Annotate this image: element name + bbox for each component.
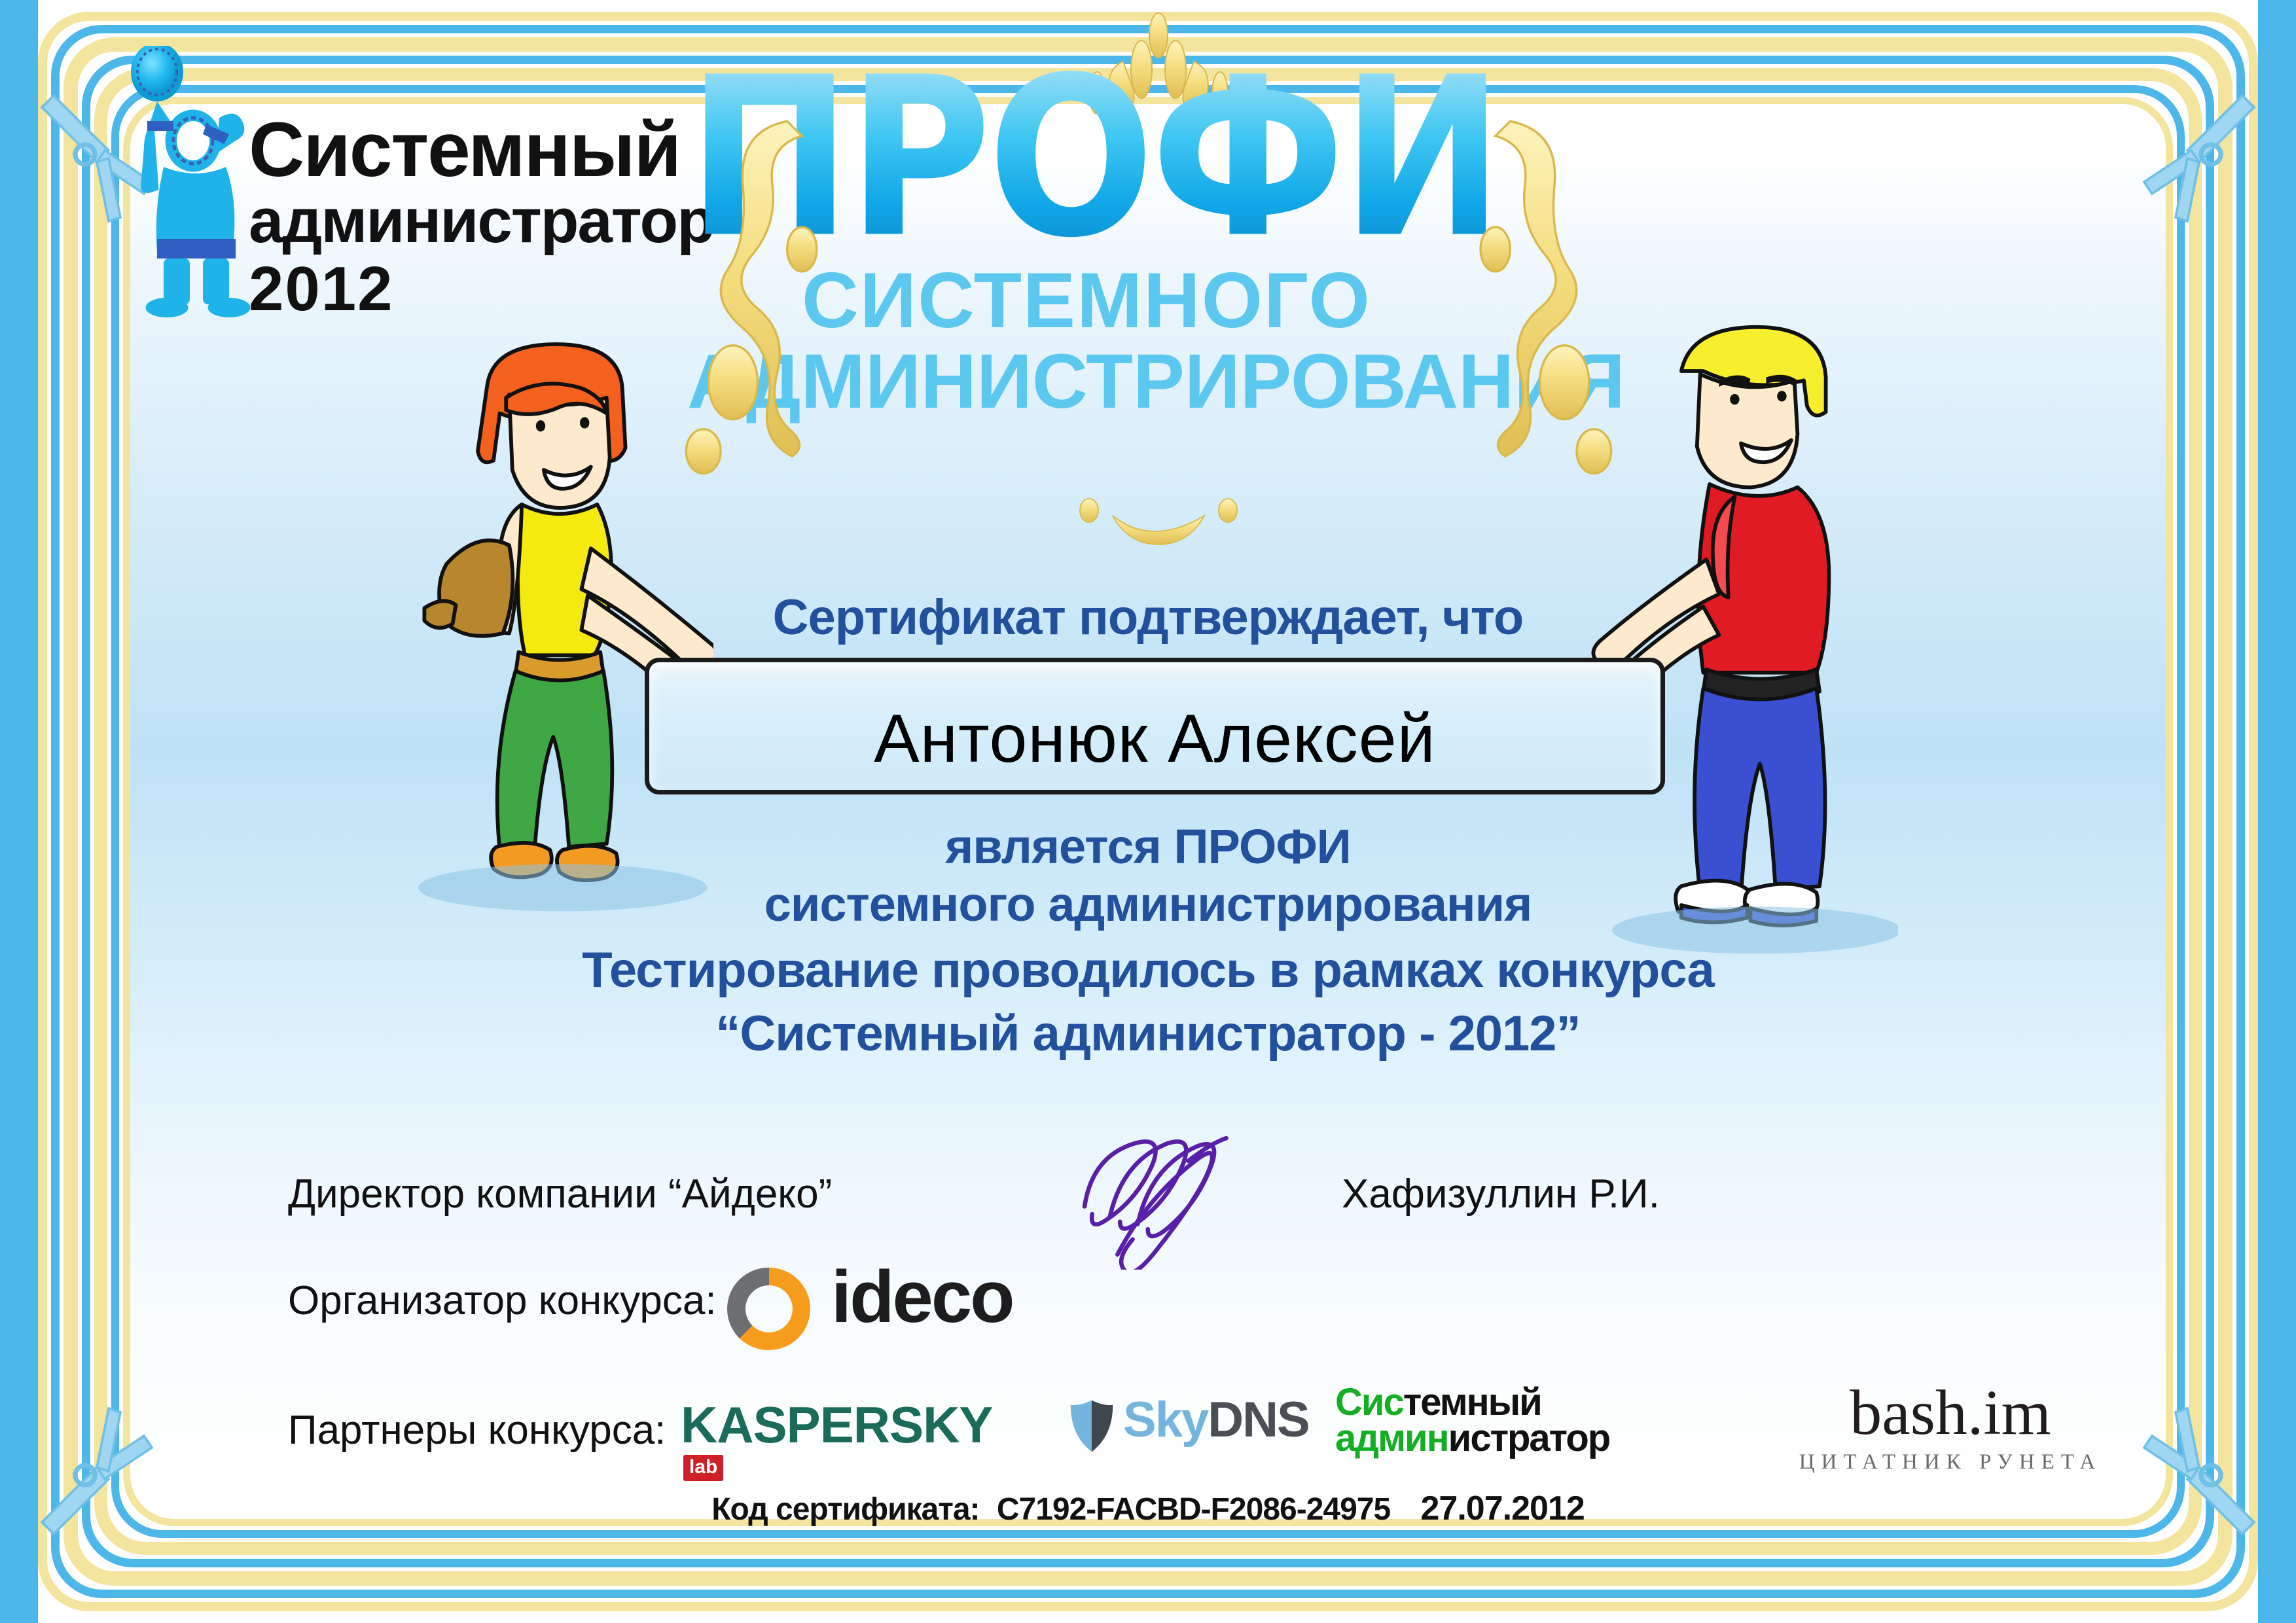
ideco-logo: ideco	[720, 1260, 1060, 1351]
border-left-band	[0, 0, 38, 1623]
logo-line-2: администратор	[249, 188, 714, 255]
recipient-name-field[interactable]: Антонюк Алексей	[645, 658, 1665, 794]
certificate-code-line: Код сертификата: C7192-FACBD-F2086-24975…	[0, 1489, 2296, 1528]
sysadmin-small-black-2: истратор	[1448, 1417, 1610, 1459]
kaspersky-wordmark: KASPERSKY	[681, 1396, 992, 1454]
skydns-shield-icon	[1067, 1398, 1117, 1454]
skydns-wordmark: SkyDNS	[1123, 1391, 1309, 1448]
handwritten-signature-icon	[1067, 1126, 1257, 1270]
signature-row: Директор компании “Айдеко” Хафизуллин Р.…	[288, 1162, 1597, 1234]
logo-line-3: 2012	[249, 255, 714, 324]
border-right-band	[2258, 0, 2296, 1623]
body-line-4: “Системный администратор - 2012”	[0, 1005, 2296, 1063]
signatory-name: Хафизуллин Р.И.	[1342, 1171, 1660, 1217]
skydns-dns: DNS	[1208, 1392, 1308, 1448]
certificate-canvas: Системный администратор 2012 ПРОФИ СИСТЕ…	[0, 0, 2296, 1623]
sysadmin-small-line-1: Системный	[1335, 1385, 1702, 1421]
ideco-ring-icon	[720, 1260, 818, 1358]
gold-flourish-bottom	[1060, 497, 1257, 569]
skydns-sky: Sky	[1123, 1392, 1208, 1448]
bashim-wordmark: bash.im	[1780, 1381, 2121, 1445]
bashim-logo: bash.im ЦИТАТНИК РУНЕТА	[1780, 1381, 2121, 1479]
body-line-3: Тестирование проводилось в рамках конкур…	[0, 941, 2296, 1000]
code-value: C7192-FACBD-F2086-24975	[997, 1492, 1390, 1527]
partners-label: Партнеры конкурса:	[288, 1407, 666, 1454]
sysadmin-logo-text: Системный администратор 2012	[249, 111, 714, 323]
sysadmin-magazine-logo: Системный администратор	[1335, 1385, 1702, 1470]
kaspersky-logo: KASPERSKYlab	[681, 1395, 1021, 1455]
body-line-2: системного администрирования	[0, 876, 2296, 933]
issue-date: 27.07.2012	[1421, 1489, 1585, 1527]
sysadmin-small-green-2: админ	[1335, 1417, 1448, 1459]
sysadmin-small-line-2: администратор	[1335, 1421, 1702, 1457]
skydns-logo: SkyDNS	[1067, 1394, 1329, 1457]
bashim-tagline: ЦИТАТНИК РУНЕТА	[1780, 1450, 2121, 1474]
ideco-wordmark: ideco	[831, 1255, 1013, 1339]
confirm-line: Сертификат подтверждает, что	[0, 589, 2296, 646]
body-line-1: является ПРОФИ	[0, 818, 2296, 875]
organizer-label: Организатор конкурса:	[288, 1277, 717, 1324]
code-label: Код сертификата:	[711, 1492, 979, 1527]
recipient-name: Антонюк Алексей	[649, 700, 1660, 778]
logo-line-1: Системный	[249, 111, 714, 188]
signature-label: Директор компании “Айдеко”	[288, 1171, 832, 1217]
kaspersky-lab-badge: lab	[683, 1455, 723, 1481]
